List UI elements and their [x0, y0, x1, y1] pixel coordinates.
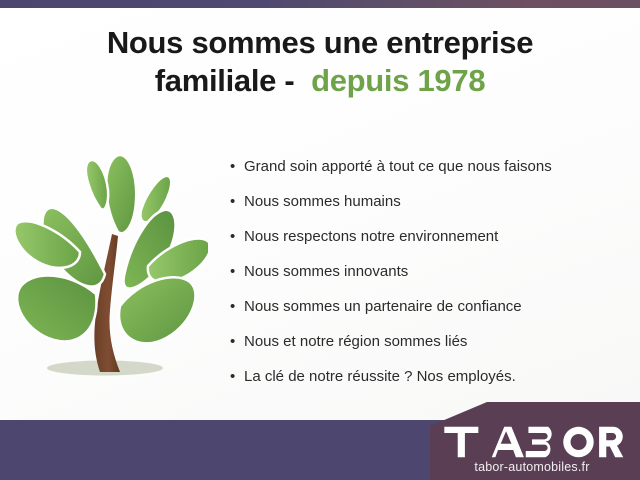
tree-trunk: [94, 234, 120, 372]
page-title-line-2-black: familiale -: [155, 63, 295, 98]
bullet-icon: •: [230, 159, 244, 174]
bullet-icon: •: [230, 264, 244, 279]
slide-canvas: Nous sommes une entreprise familiale - d…: [0, 0, 640, 480]
list-item: • Nous sommes humains: [230, 184, 630, 219]
list-item: • Grand soin apporté à tout ce que nous …: [230, 149, 630, 184]
list-item: • La clé de notre réussite ? Nos employé…: [230, 359, 630, 394]
list-item-label: Nous sommes un partenaire de confiance: [244, 298, 630, 315]
tree-leaf: [86, 160, 108, 210]
list-item-label: Nous sommes humains: [244, 193, 630, 210]
bullet-icon: •: [230, 194, 244, 209]
tree-leaf: [106, 155, 136, 233]
list-item-label: La clé de notre réussite ? Nos employés.: [244, 368, 630, 385]
list-item-label: Nous et notre région sommes liés: [244, 333, 630, 350]
list-item-label: Nous sommes innovants: [244, 263, 630, 280]
page-title-line-1: Nous sommes une entreprise: [0, 24, 640, 62]
bullet-icon: •: [230, 334, 244, 349]
brand-logo[interactable]: tabor-automobiles.fr: [440, 425, 624, 474]
page-title-line-2-green: depuis 1978: [311, 63, 485, 98]
page-title: Nous sommes une entreprise familiale - d…: [0, 24, 640, 100]
list-item: • Nous sommes innovants: [230, 254, 630, 289]
page-title-line-2: familiale - depuis 1978: [0, 62, 640, 100]
benefits-list: • Grand soin apporté à tout ce que nous …: [230, 149, 630, 394]
list-item-label: Grand soin apporté à tout ce que nous fa…: [244, 158, 630, 175]
tree-illustration: [8, 146, 208, 386]
bullet-icon: •: [230, 299, 244, 314]
bullet-icon: •: [230, 229, 244, 244]
top-accent-bar: [0, 0, 640, 8]
list-item-label: Nous respectons notre environnement: [244, 228, 630, 245]
list-item: • Nous respectons notre environnement: [230, 219, 630, 254]
tabor-wordmark-icon: [440, 425, 624, 459]
list-item: • Nous sommes un partenaire de confiance: [230, 289, 630, 324]
footer-bar: tabor-automobiles.fr: [0, 402, 640, 480]
brand-url[interactable]: tabor-automobiles.fr: [440, 460, 624, 474]
bullet-icon: •: [230, 369, 244, 384]
list-item: • Nous et notre région sommes liés: [230, 324, 630, 359]
